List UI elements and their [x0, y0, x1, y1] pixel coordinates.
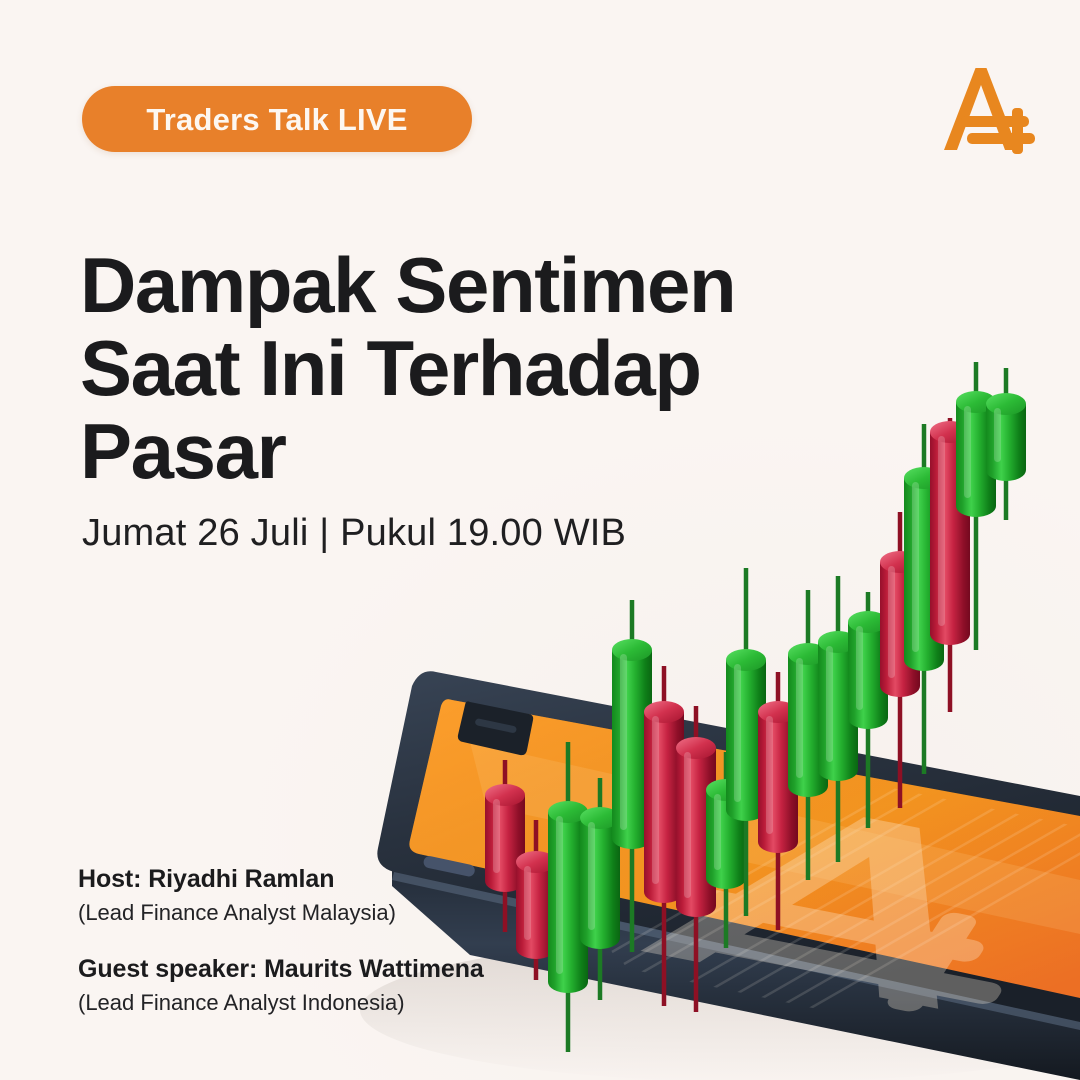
- candle-body: [930, 432, 970, 645]
- candle-14-bearish: [880, 512, 920, 808]
- candle-highlight: [912, 482, 919, 652]
- screen-stripe-texture: [612, 694, 1080, 1060]
- candle-body: [758, 712, 798, 853]
- candle-top-cap: [758, 701, 798, 723]
- candle-6-bearish: [644, 666, 684, 1006]
- candle-top-cap: [848, 611, 888, 633]
- candle-18-bullish: [986, 368, 1026, 520]
- phone-speaker-slot: [475, 718, 518, 734]
- host-credit: Host: Riyadhi Ramlan (Lead Finance Analy…: [78, 864, 638, 928]
- candle-12-bullish: [818, 576, 858, 862]
- candle-16-bearish: [930, 418, 970, 712]
- page-title: Dampak Sentimen Saat Ini Terhadap Pasar: [80, 244, 820, 492]
- logo-descender: [1012, 108, 1023, 154]
- ascendex-a-logo: [934, 58, 1038, 162]
- candle-15-bullish: [904, 424, 944, 774]
- candle-body: [788, 654, 828, 797]
- host-name: Host: Riyadhi Ramlan: [78, 864, 638, 895]
- candle-top-cap: [956, 391, 996, 413]
- candle-body: [986, 404, 1026, 481]
- candle-body: [726, 660, 766, 821]
- candle-10-bearish: [758, 672, 798, 930]
- candle-highlight: [888, 566, 895, 678]
- candle-top-cap: [676, 737, 716, 759]
- candle-top-cap: [580, 807, 620, 829]
- candle-highlight: [684, 752, 691, 898]
- candle-body: [644, 712, 684, 903]
- candle-highlight: [734, 664, 741, 802]
- candle-body: [612, 650, 652, 849]
- candle-top-cap: [788, 643, 828, 665]
- candle-highlight: [493, 799, 500, 873]
- candle-top-cap: [904, 467, 944, 489]
- candle-top-cap: [644, 701, 684, 723]
- candle-top-cap: [818, 631, 858, 653]
- promo-poster: Traders Talk LIVE Dampak Sentimen Saat I…: [0, 0, 1080, 1080]
- candle-7-bearish: [676, 706, 716, 1012]
- live-badge-label: Traders Talk LIVE: [146, 104, 407, 135]
- candle-top-cap: [986, 393, 1026, 415]
- candle-top-cap: [612, 639, 652, 661]
- candle-top-cap: [706, 779, 746, 801]
- candle-top-cap: [548, 801, 588, 823]
- candle-highlight: [964, 406, 971, 498]
- candle-body: [676, 748, 716, 917]
- candle-highlight: [714, 794, 721, 870]
- candle-body: [706, 790, 746, 889]
- candle-top-cap: [726, 649, 766, 671]
- candle-highlight: [620, 654, 627, 830]
- logo-crossbar-lower: [967, 133, 1035, 144]
- candle-top-cap: [880, 551, 920, 573]
- candle-17-bullish: [956, 362, 996, 650]
- screen-logo-watermark: [636, 794, 1080, 1026]
- candle-9-bullish: [726, 568, 766, 916]
- credits-block: Host: Riyadhi Ramlan (Lead Finance Analy…: [78, 864, 638, 1018]
- candle-highlight: [856, 626, 863, 710]
- phone-notch: [458, 701, 533, 755]
- candle-top-cap: [930, 421, 970, 443]
- host-role: (Lead Finance Analyst Malaysia): [78, 899, 638, 928]
- candle-highlight: [826, 646, 833, 762]
- candle-highlight: [652, 716, 659, 884]
- candle-highlight: [938, 436, 945, 626]
- candle-11-bullish: [788, 590, 828, 880]
- candle-highlight: [994, 408, 1001, 462]
- guest-role: (Lead Finance Analyst Indonesia): [78, 989, 638, 1018]
- candle-body: [956, 402, 996, 517]
- candle-body: [848, 622, 888, 729]
- candle-highlight: [766, 716, 773, 834]
- guest-name: Guest speaker: Maurits Wattimena: [78, 954, 638, 985]
- guest-credit: Guest speaker: Maurits Wattimena (Lead F…: [78, 954, 638, 1018]
- schedule-line: Jumat 26 Juli | Pukul 19.00 WIB: [82, 512, 626, 555]
- candle-top-cap: [485, 784, 525, 806]
- candle-8-bullish: [706, 752, 746, 948]
- candle-body: [880, 562, 920, 697]
- candle-body: [818, 642, 858, 781]
- candle-body: [904, 478, 944, 671]
- candle-highlight: [796, 658, 803, 778]
- candle-13-bullish: [848, 592, 888, 828]
- live-badge[interactable]: Traders Talk LIVE: [82, 86, 472, 152]
